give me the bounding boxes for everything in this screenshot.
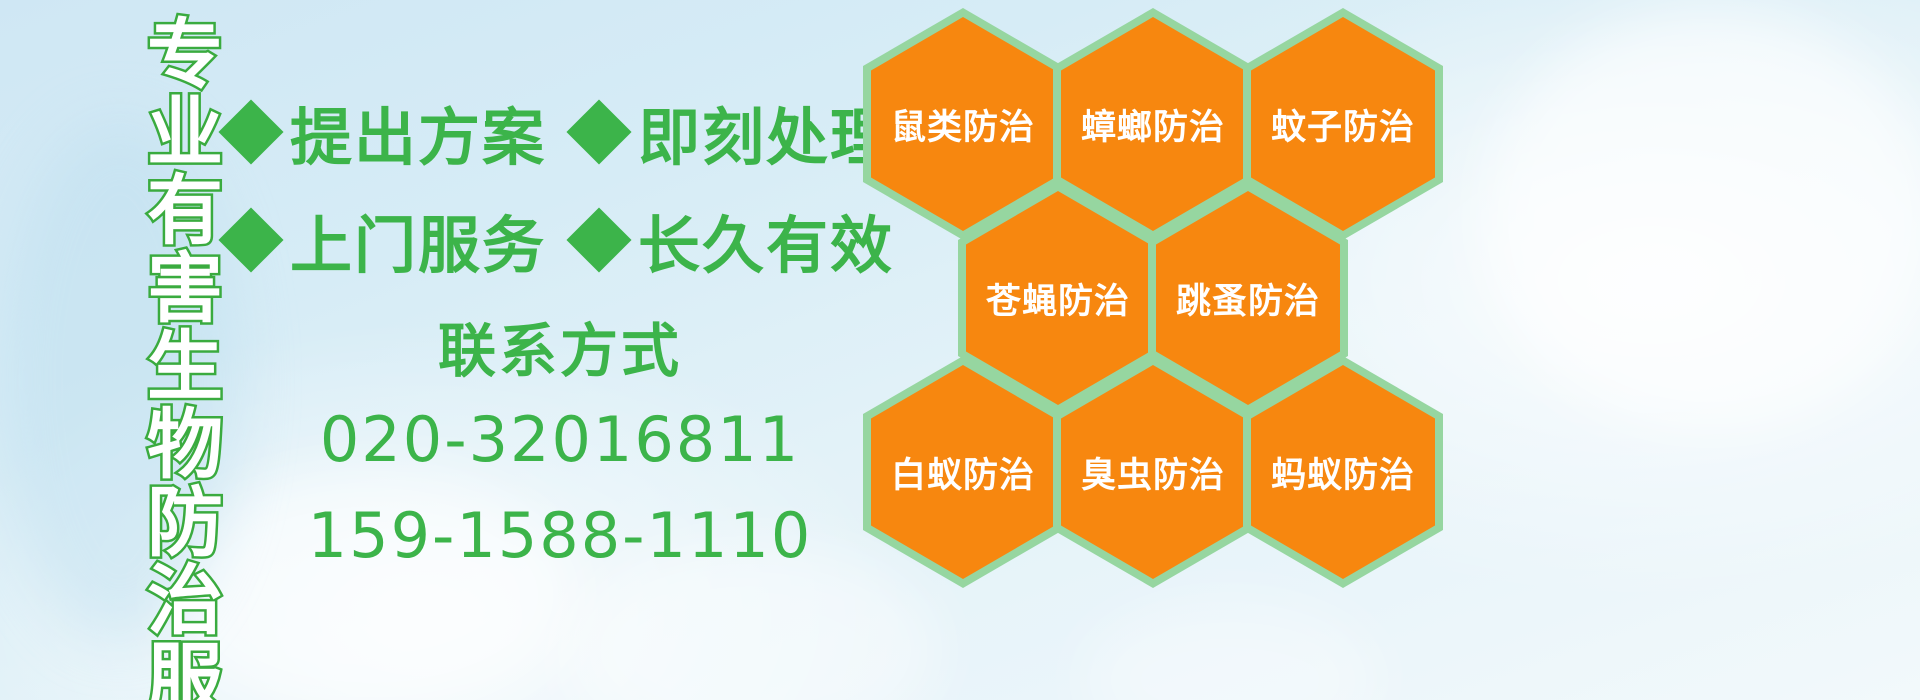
background-light-streak [1480, 10, 1920, 430]
diamond-icon [566, 99, 631, 164]
feature-label: 上门服务 [290, 195, 546, 285]
hex-label: 跳蚤防治 [1176, 273, 1320, 324]
hex-label: 白蚁防治 [891, 447, 1035, 498]
hex-label: 蟑螂防治 [1081, 99, 1225, 150]
feature-item-propose-plan[interactable]: 提出方案 [228, 87, 546, 177]
feature-list: 提出方案 即刻处理 上门服务 长久有效 [228, 78, 868, 294]
hex-label: 鼠类防治 [891, 99, 1035, 150]
feature-item-long-lasting[interactable]: 长久有效 [576, 195, 894, 285]
diamond-icon [218, 99, 283, 164]
feature-row: 提出方案 即刻处理 [228, 78, 868, 186]
hex-cell-termite-control[interactable]: 白蚁防治 [863, 356, 1063, 588]
contact-phone-landline[interactable]: 020-32016811 [300, 399, 820, 481]
vertical-headline: 专业有害生物防治服务 [108, 14, 216, 686]
contact-phone-mobile[interactable]: 159-1588-1110 [300, 495, 820, 577]
feature-item-onsite-service[interactable]: 上门服务 [228, 195, 546, 285]
service-honeycomb: 鼠类防治 蟑螂防治 蚊子防治 苍蝇防治 跳蚤防治 [855, 0, 1475, 700]
feature-item-immediate-handling[interactable]: 即刻处理 [576, 87, 894, 177]
hex-label: 苍蝇防治 [986, 273, 1130, 324]
promo-banner: 专业有害生物防治服务 提出方案 即刻处理 上门服务 长久有效 联 [0, 0, 1920, 700]
hex-label: 蚂蚁防治 [1271, 447, 1415, 498]
feature-label: 提出方案 [290, 87, 546, 177]
hex-label: 臭虫防治 [1081, 447, 1225, 498]
hex-cell-bedbug-control[interactable]: 臭虫防治 [1053, 356, 1253, 588]
contact-block: 联系方式 020-32016811 159-1588-1110 [300, 318, 820, 576]
diamond-icon [566, 207, 631, 272]
hex-label: 蚊子防治 [1271, 99, 1415, 150]
diamond-icon [218, 207, 283, 272]
hex-cell-ant-control[interactable]: 蚂蚁防治 [1243, 356, 1443, 588]
feature-row: 上门服务 长久有效 [228, 186, 868, 294]
contact-heading: 联系方式 [300, 318, 820, 385]
